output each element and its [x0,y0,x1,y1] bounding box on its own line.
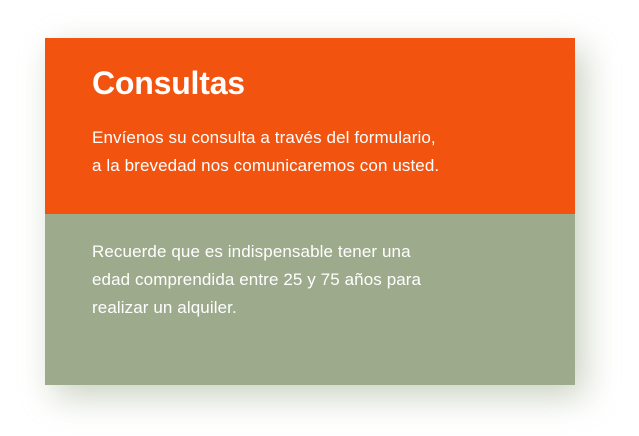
consultas-notice-line-1: Recuerde que es indispensable tener una [92,238,541,266]
consultas-card: Consultas Envíenos su consulta a través … [45,38,575,385]
consultas-notice-line-2: edad comprendida entre 25 y 75 años para [92,266,541,294]
page-title: Consultas [92,64,535,102]
consultas-intro-line-1: Envíenos su consulta a través del formul… [92,124,535,152]
consultas-primary-panel: Consultas Envíenos su consulta a través … [45,38,575,214]
consultas-intro-line-2: a la brevedad nos comunicaremos con uste… [92,152,535,180]
consultas-secondary-panel: Recuerde que es indispensable tener una … [45,214,575,385]
consultas-notice-text: Recuerde que es indispensable tener una … [92,238,541,322]
page-root: Consultas Envíenos su consulta a través … [0,0,639,436]
consultas-intro-text: Envíenos su consulta a través del formul… [92,124,535,180]
consultas-notice-line-3: realizar un alquiler. [92,294,541,322]
